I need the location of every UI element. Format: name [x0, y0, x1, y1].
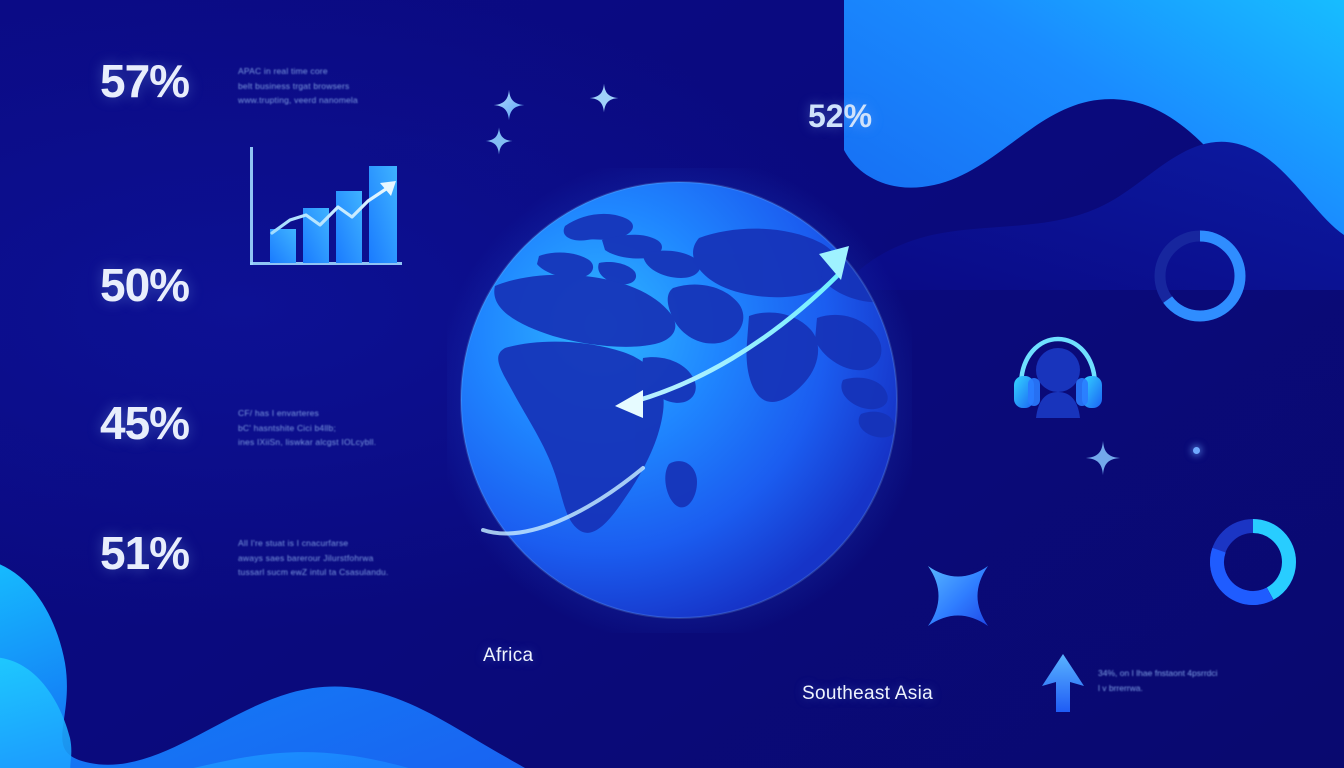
- stat-row-57: 57% APAC in real time core belt business…: [100, 58, 358, 108]
- background-wave-top-right-back: [844, 0, 1344, 280]
- caption-bottom-right: 34%, on I lhae fnstaont 4psrrdci l v brr…: [1098, 666, 1218, 697]
- caption-line: 34%, on I lhae fnstaont 4psrrdci: [1098, 666, 1218, 681]
- stat-row-50: 50%: [100, 262, 220, 308]
- stat-description: CF/ has I envarteres bC' hasntshite Cici…: [238, 406, 376, 450]
- stat-desc-line: APAC in real time core: [238, 64, 358, 79]
- stat-percent-52: 52%: [808, 98, 872, 135]
- stat-desc-line: bC' hasntshite Cici b4llb;: [238, 421, 376, 436]
- dot-marker: [1193, 447, 1200, 454]
- donut-chart-icon: [1146, 222, 1254, 330]
- globe-icon: [447, 168, 912, 633]
- stat-row-51: 51% All I're stuat is I cnacurfarse away…: [100, 530, 389, 580]
- stat-desc-line: ines IXiiSn, liswkar alcgst IOLcybll.: [238, 435, 376, 450]
- stat-percent-value: 51%: [100, 530, 220, 576]
- background-wave-top-right-front: [854, 0, 1344, 290]
- donut-chart-icon: [1203, 512, 1303, 612]
- stat-percent-value: 57%: [100, 58, 220, 104]
- caption-line: l v brrerrwa.: [1098, 681, 1218, 696]
- sparkle-icon: [484, 126, 514, 156]
- stat-desc-line: tussarl sucm ewZ intul ta Csasulandu.: [238, 565, 389, 580]
- sparkle-icon: [492, 88, 526, 122]
- stat-desc-line: All I're stuat is I cnacurfarse: [238, 536, 389, 551]
- stat-description: APAC in real time core belt business trg…: [238, 64, 358, 108]
- stat-desc-line: aways saes barerour Jilurstfohrwa: [238, 551, 389, 566]
- sparkle-icon: [588, 82, 620, 114]
- region-label-africa: Africa: [483, 645, 533, 667]
- infographic-canvas: 57% APAC in real time core belt business…: [0, 0, 1344, 768]
- stat-desc-line: CF/ has I envarteres: [238, 406, 376, 421]
- stat-desc-line: belt business trgat browsers: [238, 79, 358, 94]
- headphones-icon: [1008, 330, 1108, 418]
- stat-percent-value: 50%: [100, 262, 220, 308]
- sparkle-icon: [1085, 440, 1121, 476]
- bar-chart-icon: [248, 145, 418, 275]
- stat-description: All I're stuat is I cnacurfarse aways sa…: [238, 536, 389, 580]
- stat-percent-value: 45%: [100, 400, 220, 446]
- arrow-up-icon: [1040, 652, 1086, 714]
- stat-desc-line: www.trupting, veerd nanomela: [238, 93, 358, 108]
- stat-row-45: 45% CF/ has I envarteres bC' hasntshite …: [100, 400, 376, 450]
- region-label-southeast-asia: Southeast Asia: [802, 683, 933, 705]
- four-point-star-icon: [924, 562, 992, 630]
